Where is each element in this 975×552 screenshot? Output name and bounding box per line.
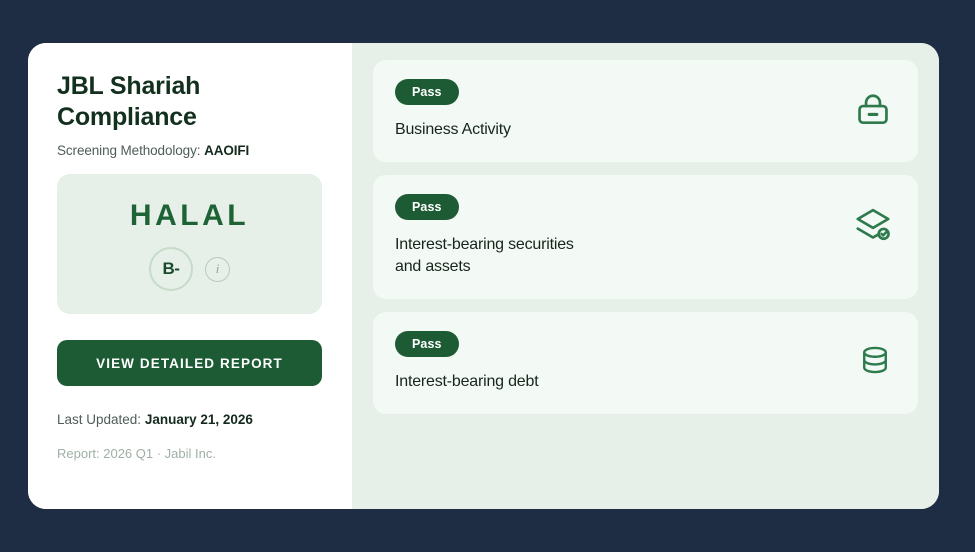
check-card-interest-bearing-securities[interactable]: Pass Interest-bearing securities and ass… xyxy=(373,175,918,299)
status-badge: Pass xyxy=(395,331,459,357)
check-label: Interest-bearing securities and assets xyxy=(395,234,595,279)
status-badge: Pass xyxy=(395,79,459,105)
lock-icon xyxy=(854,91,892,134)
rating-row: B- i xyxy=(149,247,230,291)
database-icon xyxy=(858,343,892,382)
check-card-business-activity[interactable]: Pass Business Activity xyxy=(373,60,918,162)
check-card-interest-bearing-debt[interactable]: Pass Interest-bearing debt xyxy=(373,312,918,414)
last-updated: Last Updated: January 21, 2026 xyxy=(57,412,322,427)
compliance-status-box: HALAL B- i xyxy=(57,174,322,314)
methodology-value: AAOIFI xyxy=(204,143,249,158)
status-badge: Pass xyxy=(395,194,459,220)
grade-badge: B- xyxy=(149,247,193,291)
card-body: Pass Interest-bearing debt xyxy=(395,331,538,394)
check-label: Interest-bearing debt xyxy=(395,371,538,394)
card-body: Pass Interest-bearing securities and ass… xyxy=(395,194,595,279)
card-body: Pass Business Activity xyxy=(395,79,511,142)
shariah-compliance-widget: JBL Shariah Compliance Screening Methodo… xyxy=(28,43,939,509)
checks-panel: Pass Business Activity Pass Interest-bea… xyxy=(352,43,939,509)
last-updated-value: January 21, 2026 xyxy=(145,412,253,427)
screen-background: JBL Shariah Compliance Screening Methodo… xyxy=(0,0,975,552)
summary-panel: JBL Shariah Compliance Screening Methodo… xyxy=(28,43,352,509)
view-detailed-report-button[interactable]: VIEW DETAILED REPORT xyxy=(57,340,322,386)
compliance-verdict: HALAL xyxy=(130,199,249,233)
page-title: JBL Shariah Compliance xyxy=(57,71,322,132)
info-icon[interactable]: i xyxy=(205,257,230,282)
methodology-label: Screening Methodology: xyxy=(57,143,200,158)
check-label: Business Activity xyxy=(395,119,511,142)
last-updated-label: Last Updated: xyxy=(57,412,141,427)
layers-check-icon xyxy=(854,206,892,249)
screening-methodology: Screening Methodology: AAOIFI xyxy=(57,143,322,158)
report-meta: Report: 2026 Q1 · Jabil Inc. xyxy=(57,446,322,461)
